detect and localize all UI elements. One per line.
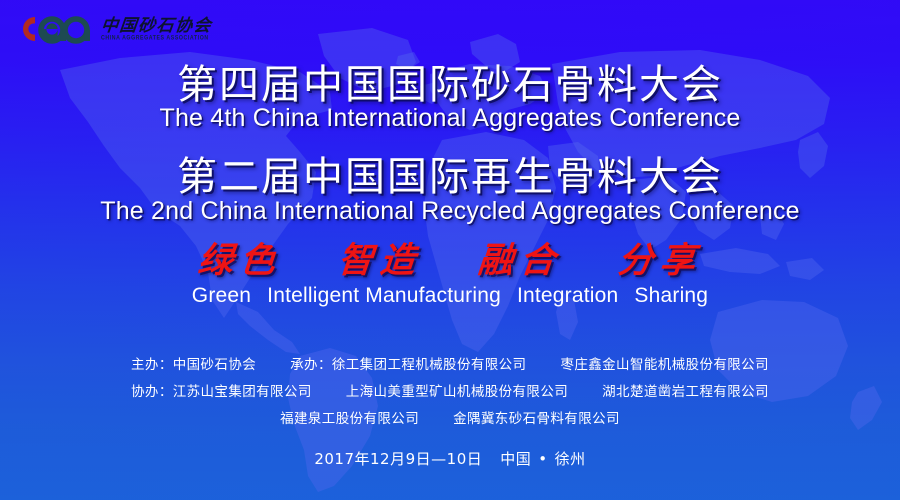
slogan-en-word-2: Intelligent Manufacturing bbox=[267, 284, 501, 307]
coorganizer-label: 协办： bbox=[131, 384, 173, 400]
slogan-en-group: GreenIntelligent ManufacturingIntegratio… bbox=[0, 284, 900, 308]
slogan-en-word-1: Green bbox=[192, 284, 251, 307]
slogan-cn-word-3: 融合 bbox=[476, 240, 564, 282]
coorganizer-name-3: 湖北楚道凿岩工程有限公司 bbox=[602, 384, 769, 400]
event-city: 徐州 bbox=[555, 450, 586, 468]
slogan-cn-word-1: 绿色 bbox=[196, 240, 284, 282]
event-date-venue: 2017年12月9日—10日中国•徐州 bbox=[0, 448, 900, 469]
event-country: 中国 bbox=[500, 450, 531, 468]
organizers-block: 主办：中国砂石协会承办：徐工集团工程机械股份有限公司枣庄鑫金山智能机械股份有限公… bbox=[0, 352, 900, 433]
organizers-row-host: 主办：中国砂石协会承办：徐工集团工程机械股份有限公司枣庄鑫金山智能机械股份有限公… bbox=[0, 352, 900, 379]
banner-content: 第四届中国国际砂石骨料大会 The 4th China Internationa… bbox=[0, 0, 900, 500]
conference-title-en-primary: The 4th China International Aggregates C… bbox=[0, 104, 900, 133]
organizer-name-2: 枣庄鑫金山智能机械股份有限公司 bbox=[560, 357, 769, 373]
slogan-en-word-3: Integration bbox=[517, 284, 618, 307]
organizer-name-1: 徐工集团工程机械股份有限公司 bbox=[332, 357, 527, 373]
slogan-cn-word-2: 智造 bbox=[336, 240, 424, 282]
coorganizer-name-2: 上海山美重型矿山机械股份有限公司 bbox=[346, 384, 568, 400]
conference-banner: 中国砂石协会 CHINA AGGREGATES ASSOCIATION 第四届中… bbox=[0, 0, 900, 500]
host-name: 中国砂石协会 bbox=[173, 357, 256, 373]
conference-title-cn-secondary: 第二届中国国际再生骨料大会 bbox=[0, 144, 900, 202]
slogan-cn-word-4: 分享 bbox=[616, 240, 704, 282]
conference-title-en-secondary: The 2nd China International Recycled Agg… bbox=[0, 197, 900, 226]
conference-title-cn-primary: 第四届中国国际砂石骨料大会 bbox=[0, 52, 900, 110]
coorganizer-name-4: 福建泉工股份有限公司 bbox=[280, 411, 419, 427]
venue-separator: • bbox=[531, 450, 554, 468]
organizers-row-coorganizers-2: 福建泉工股份有限公司金隅冀东砂石骨料有限公司 bbox=[0, 406, 900, 433]
organizers-row-coorganizers-1: 协办：江苏山宝集团有限公司上海山美重型矿山机械股份有限公司湖北楚道凿岩工程有限公… bbox=[0, 379, 900, 406]
slogan-cn-group: 绿色 智造 融合 分享 bbox=[0, 240, 900, 282]
event-date: 2017年12月9日—10日 bbox=[314, 450, 482, 468]
host-label: 主办： bbox=[131, 357, 173, 373]
slogan-en-word-4: Sharing bbox=[634, 284, 708, 307]
organizer-label: 承办： bbox=[290, 357, 332, 373]
coorganizer-name-5: 金隅冀东砂石骨料有限公司 bbox=[453, 411, 620, 427]
coorganizer-name-1: 江苏山宝集团有限公司 bbox=[173, 384, 312, 400]
